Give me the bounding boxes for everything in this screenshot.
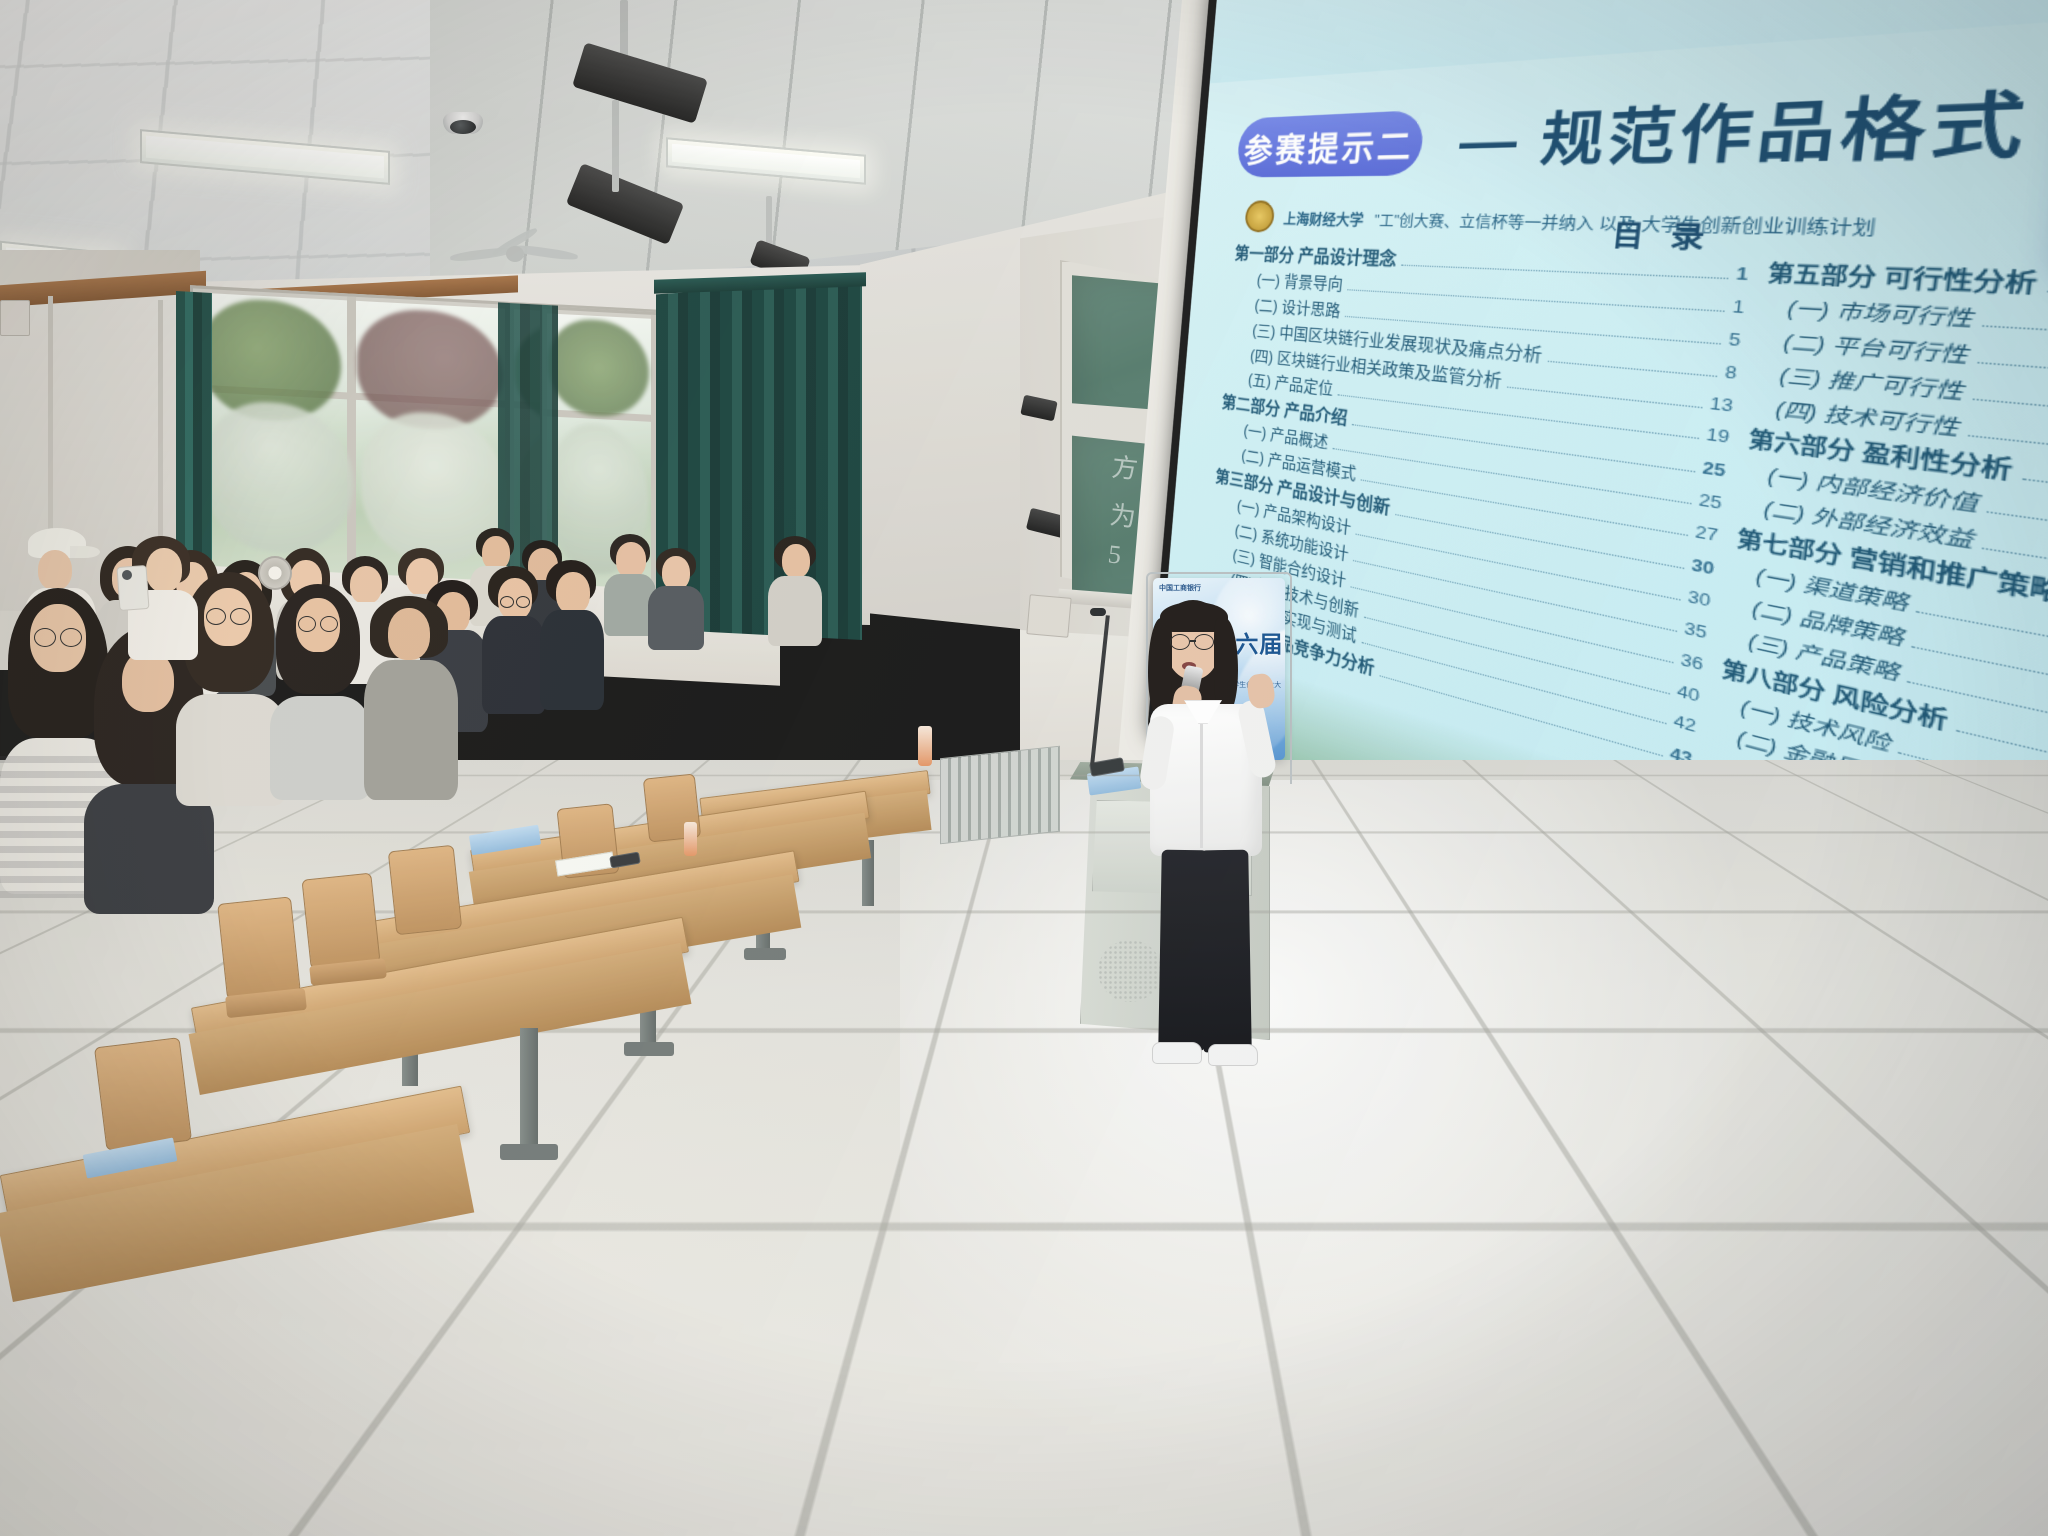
toc-page-number: 5	[1728, 330, 1742, 349]
microphone-capsule	[1090, 608, 1106, 616]
toc-page-number: 1	[1732, 297, 1746, 315]
org-name: 上海财经大学	[1283, 207, 1365, 229]
radiator	[940, 746, 1060, 845]
conduit-pipe	[158, 300, 163, 550]
presenter-hair-left	[1148, 618, 1172, 718]
toc-entry-label: (二) 设计思路	[1254, 299, 1341, 321]
audience-person	[648, 548, 704, 648]
projector-mount-rod	[612, 100, 619, 192]
phone-camera-lens-icon	[122, 570, 132, 580]
toc-page-number: 19	[1706, 426, 1731, 446]
glasses-bridge	[1190, 640, 1196, 642]
toc-page-number: 30	[1691, 556, 1715, 577]
toc-page-number: 1	[1736, 264, 1750, 282]
shirt-placket	[1200, 706, 1203, 848]
toc-page-number: 42	[1673, 712, 1697, 735]
toc-entry-label: (三) 推广可行性	[1778, 367, 1964, 404]
toc-page-number: 13	[1709, 394, 1734, 414]
presenter-shoe	[1152, 1042, 1202, 1064]
dome-camera-icon	[443, 112, 483, 134]
presenter	[1140, 600, 1320, 1100]
presenter-hair-right	[1214, 618, 1238, 714]
toc-leader-dots	[1548, 360, 1717, 376]
raised-smartphone[interactable]	[117, 565, 150, 611]
desk-leg	[520, 1028, 538, 1152]
chair-back	[388, 845, 462, 935]
classroom-photo-scene: 方 为 5 ICBC 工 参赛提示二	[0, 0, 2048, 1536]
toc-page-number: 25	[1698, 491, 1723, 512]
chalk-mark: 为	[1108, 495, 1138, 535]
toc-entry-label: (一) 背景导向	[1256, 273, 1343, 293]
slide-sponsor-bar: ICBC 工	[1210, 0, 2048, 83]
toc-leader-dots	[1402, 265, 1728, 280]
handheld-fan	[258, 556, 292, 590]
presenter-glasses	[1194, 634, 1214, 650]
ceiling-fan	[450, 238, 580, 274]
cap-brim	[70, 546, 100, 558]
banner-org: 中国工商银行	[1159, 583, 1201, 593]
desk-foot	[744, 948, 786, 960]
audience-person-front	[364, 596, 458, 796]
toc-entry-label: (五) 产品定位	[1247, 374, 1333, 400]
slide-heading: — 规范作品格式	[1456, 67, 2038, 177]
presenter-shoe	[1208, 1044, 1258, 1066]
slide-org-line: 上海财经大学 "工"创大赛、立信杯等一并纳入 以及 大学生创新创业训练计划	[1244, 200, 1879, 246]
toc-page-number: 36	[1680, 650, 1704, 672]
drink-bottle	[684, 822, 697, 856]
wall-panel-box	[1026, 594, 1071, 638]
conduit-pipe	[48, 296, 53, 546]
floor-light-reflection	[900, 780, 1800, 1520]
toc-leader-dots	[1507, 386, 1701, 408]
audience-person-front	[270, 584, 370, 794]
toc-entry-label: 第五部分 可行性分析	[1767, 264, 2039, 297]
toc-page-number: 40	[1676, 681, 1700, 704]
toc-page-number: 8	[1724, 362, 1738, 381]
presenter-pants	[1200, 850, 1252, 1053]
audience-person	[482, 566, 546, 712]
university-seal-icon	[1244, 200, 1275, 232]
toc-page-number: 30	[1687, 587, 1711, 609]
chair-back	[217, 896, 301, 999]
toc-page-number: 27	[1694, 523, 1719, 544]
chalk-mark: 方	[1110, 447, 1140, 487]
desk-foot	[624, 1042, 674, 1056]
toc-title: 目 录	[1610, 212, 1717, 256]
drink-bottle	[918, 726, 932, 766]
toc-entry-label: (二) 平台可行性	[1782, 333, 1969, 367]
chair-back	[301, 873, 380, 970]
toc-page-number: 35	[1684, 619, 1708, 641]
toc-page-number: 25	[1702, 459, 1727, 480]
audience-person	[540, 560, 604, 708]
wall-outlet-box	[0, 300, 30, 336]
presenter-glasses	[1170, 634, 1190, 650]
slide-badge: 参赛提示二	[1236, 110, 1425, 178]
chair-back	[94, 1037, 192, 1151]
toc-entry-label: (一) 产品概述	[1243, 424, 1329, 452]
audience-person	[768, 536, 822, 644]
desk-foot	[500, 1144, 558, 1160]
toc-entry-label: 第一部分 产品设计理念	[1234, 246, 1397, 269]
toc-entry-label: (一) 市场可行性	[1786, 300, 1974, 331]
